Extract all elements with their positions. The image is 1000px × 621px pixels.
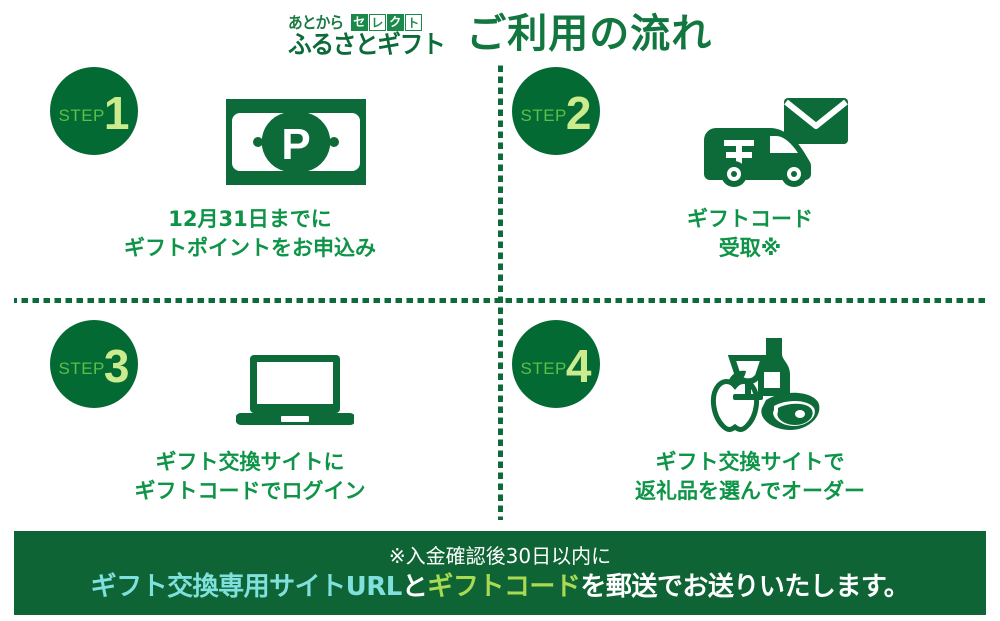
step-caption-1-line1: 12月31日までに bbox=[0, 205, 500, 234]
step-badge-label-2: STEP bbox=[521, 106, 567, 126]
banner-line-2: ギフト交換専用サイトURLとギフトコードを郵送でお送りいたします。 bbox=[91, 570, 910, 604]
step-caption-2: ギフトコード 受取※ bbox=[500, 205, 1000, 263]
step-badge-label-3: STEP bbox=[59, 359, 105, 379]
step-badge-number-4: 4 bbox=[566, 343, 592, 389]
logo-select-char-2: レ bbox=[369, 14, 386, 31]
brand-logo: あとから セ レ ク ト ふるさとギフト bbox=[288, 12, 453, 58]
step-caption-3-line2: ギフトコードでログイン bbox=[0, 477, 500, 506]
svg-text:P: P bbox=[281, 120, 310, 169]
step-badge-label-4: STEP bbox=[521, 359, 567, 379]
step-badge-3: STEP 3 bbox=[50, 320, 138, 408]
step-caption-3: ギフト交換サイトに ギフトコードでログイン bbox=[0, 448, 500, 506]
step-caption-1-line2: ギフトポイントをお申込み bbox=[0, 234, 500, 263]
logo-select-char-4: ト bbox=[405, 14, 422, 31]
logo-select-char-1: セ bbox=[351, 14, 368, 31]
step-caption-4-line1: ギフト交換サイトで bbox=[500, 448, 1000, 477]
infographic-page: あとから セ レ ク ト ふるさとギフト ご利用の流れ STEP 1 bbox=[0, 0, 1000, 621]
banner-tail-text: を郵送でお送りいたします。 bbox=[580, 572, 909, 602]
header: あとから セ レ ク ト ふるさとギフト ご利用の流れ bbox=[0, 4, 1000, 64]
logo-select-boxes: セ レ ク ト bbox=[351, 14, 422, 31]
step-badge-1: STEP 1 bbox=[50, 67, 138, 155]
step-caption-3-line1: ギフト交換サイトに bbox=[0, 448, 500, 477]
step-badge-4: STEP 4 bbox=[512, 320, 600, 408]
step-badge-number-2: 2 bbox=[566, 90, 592, 136]
step-caption-4-line2: 返礼品を選んでオーダー bbox=[500, 477, 1000, 506]
step-caption-2-line1: ギフトコード bbox=[500, 205, 1000, 234]
logo-furusato-gift-text: ふるさとギフト bbox=[288, 32, 444, 58]
step-caption-2-line2: 受取※ bbox=[500, 234, 1000, 263]
step-caption-1: 12月31日までに ギフトポイントをお申込み bbox=[0, 205, 500, 263]
logo-line-top: あとから セ レ ク ト bbox=[288, 12, 422, 31]
logo-select-char-3: ク bbox=[387, 14, 404, 31]
step-caption-4: ギフト交換サイトで 返礼品を選んでオーダー bbox=[500, 448, 1000, 506]
postal-truck-mail-icon bbox=[700, 96, 850, 188]
banner-conjunction-text: と bbox=[402, 572, 428, 602]
banknote-point-icon: P bbox=[226, 96, 366, 188]
horizontal-dotted-divider bbox=[14, 298, 986, 303]
banner-site-url-text: ギフト交換専用サイトURL bbox=[91, 572, 402, 602]
banner-line-1: ※入金確認後30日以内に bbox=[389, 543, 611, 569]
step-badge-number-3: 3 bbox=[104, 343, 130, 389]
logo-atokara-text: あとから bbox=[288, 14, 343, 31]
page-title: ご利用の流れ bbox=[466, 10, 712, 58]
step-badge-number-1: 1 bbox=[104, 90, 130, 136]
banner-gift-code-text: ギフトコード bbox=[427, 572, 580, 602]
laptop-icon bbox=[230, 352, 360, 432]
step-badge-label-1: STEP bbox=[59, 106, 105, 126]
food-drink-icon bbox=[688, 336, 823, 436]
step-badge-2: STEP 2 bbox=[512, 67, 600, 155]
bottom-notice-banner: ※入金確認後30日以内に ギフト交換専用サイトURLとギフトコードを郵送でお送り… bbox=[14, 531, 986, 615]
